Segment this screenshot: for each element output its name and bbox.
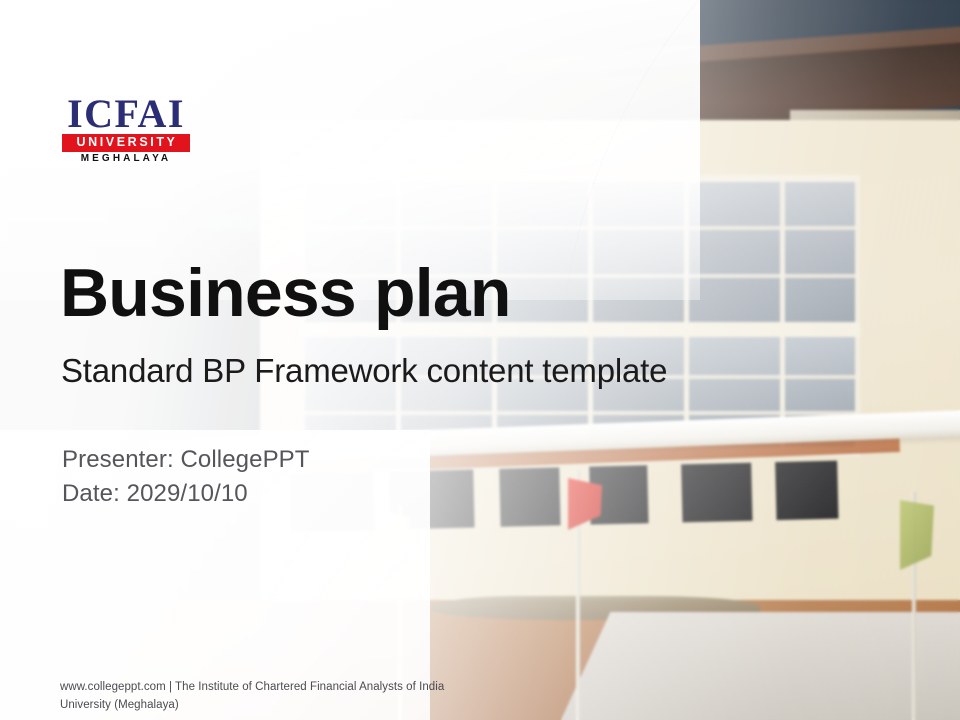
slide-meta-block: Presenter: CollegePPT Date: 2029/10/10 (62, 443, 310, 511)
logo-university-band: UNIVERSITY (62, 134, 190, 151)
presenter-line: Presenter: CollegePPT (62, 443, 310, 477)
logo-wordmark: ICFAI (62, 95, 190, 133)
date-line: Date: 2029/10/10 (62, 477, 310, 511)
slide-subtitle: Standard BP Framework content template (61, 352, 667, 390)
logo-state-name: MEGHALAYA (62, 154, 190, 164)
icfai-university-meghalaya-logo: ICFAI UNIVERSITY MEGHALAYA (62, 95, 190, 164)
slide-title: Business plan (60, 258, 511, 329)
slide-footer: www.collegeppt.com | The Institute of Ch… (60, 679, 490, 715)
title-slide: ICFAI UNIVERSITY MEGHALAYA Business plan… (0, 0, 960, 720)
